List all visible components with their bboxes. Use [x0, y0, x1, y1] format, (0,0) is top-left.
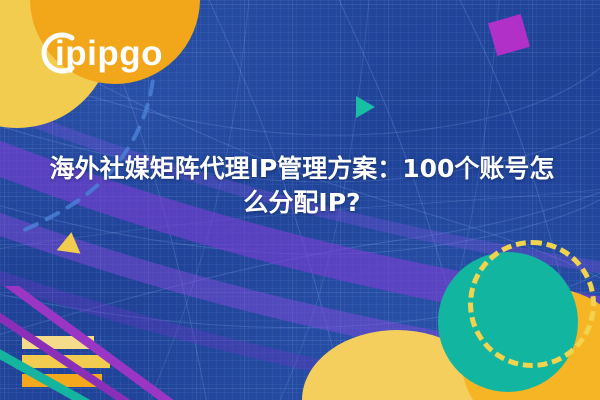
play-triangle-teal-icon [356, 96, 375, 118]
logo[interactable]: ipipgo [34, 28, 163, 78]
banner-image: ipipgo 海外社媒矩阵代理IP管理方案：100个账号怎么分配IP? [0, 0, 600, 400]
dashed-circle-bottom-right-icon [468, 240, 596, 368]
logo-text: ipipgo [55, 36, 163, 71]
page-title: 海外社媒矩阵代理IP管理方案：100个账号怎么分配IP? [48, 152, 556, 220]
triangle-yellow-icon [57, 230, 84, 253]
diagonal-stripes-decoration [0, 286, 200, 400]
rotated-square-magenta-icon [488, 14, 530, 56]
